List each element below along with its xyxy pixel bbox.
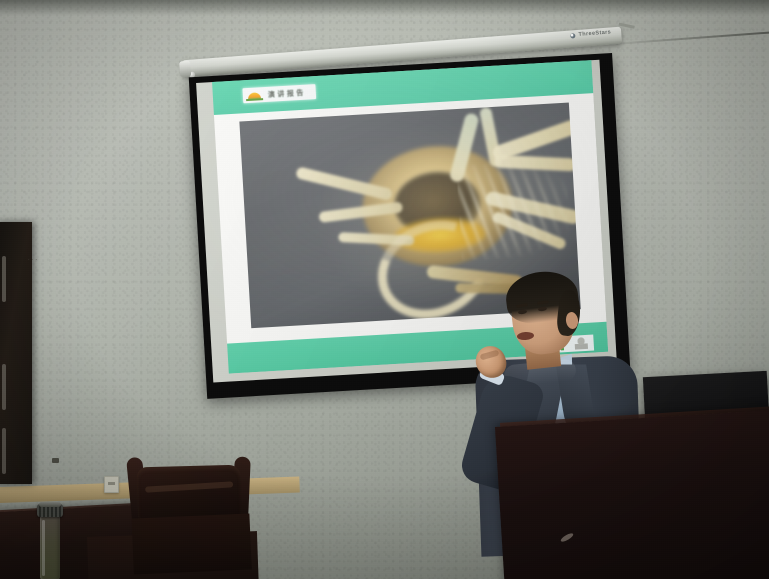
sunrise-logo-icon [246, 89, 264, 101]
roller-brand-mark: ThreeStars [570, 29, 611, 38]
podium [495, 409, 769, 579]
bottle-highlight [42, 520, 45, 576]
slide-title: 演讲报告 [268, 87, 307, 99]
brand-name: ThreeStars [578, 29, 611, 37]
brand-dot-icon [570, 33, 575, 38]
chair-seat [131, 513, 251, 574]
cabinet-slot [2, 428, 6, 474]
chair [128, 454, 253, 579]
wall-nail [52, 458, 59, 463]
bottle-cap-top [39, 502, 61, 507]
cabinet-slot [2, 364, 6, 410]
wall-outlet [104, 476, 119, 493]
cabinet-slot [2, 256, 6, 302]
ceiling-shadow [0, 0, 769, 16]
cabinet-label: ... [28, 256, 39, 262]
screenshot-root: ... ThreeStars 演讲报告 [0, 0, 769, 579]
tea-bottle [36, 504, 64, 579]
roller-endcap [179, 61, 191, 78]
